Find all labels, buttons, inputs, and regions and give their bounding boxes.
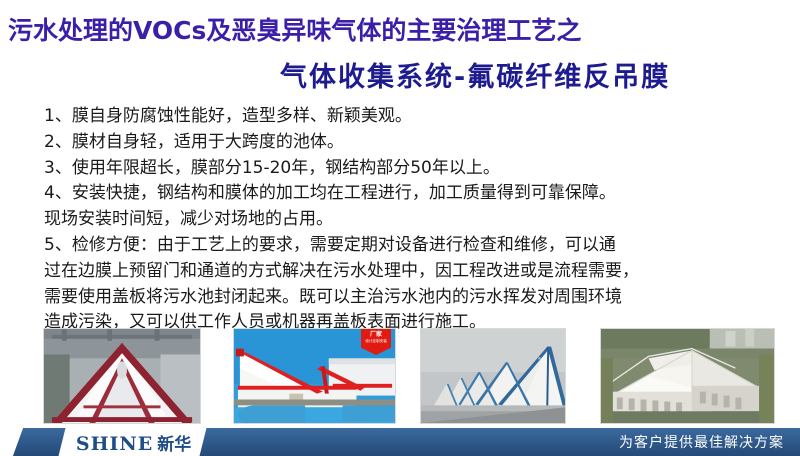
photo-strip: 厂家 设计定制安装: [0, 328, 800, 426]
photo-3-graphic: [421, 329, 565, 423]
photo-1-graphic: [44, 329, 200, 423]
page-subtitle: 气体收集系统-氟碳纤维反吊膜: [280, 64, 670, 92]
page-title: 污水处理的VOCs及恶臭异味气体的主要治理工艺之: [8, 18, 581, 44]
footer-left-accent: [0, 428, 23, 456]
body-line: 需要使用盖板将污水池封闭起来。既可以主治污水池内的污水挥发对周围环境: [44, 285, 784, 311]
body-line: 5、检修方便：由于工艺上的要求，需要定期对设备进行检查和维修，可以通: [44, 233, 784, 259]
body-line: 过在边膜上预留门和通道的方式解决在污水处理中，因工程改进或是流程需要，: [44, 259, 784, 285]
body-line: 2、膜材自身轻，适用于大跨度的池体。: [44, 130, 784, 156]
body-line: 3、使用年限超长，膜部分15-20年，钢结构部分50年以上。: [44, 156, 784, 182]
badge-line-1: 厂家: [370, 331, 382, 338]
photo-membrane-canopy-white-enclosure-aerial: [600, 328, 775, 424]
photo-membrane-canopy-red-frame-blue-pipes: 厂家 设计定制安装: [233, 328, 396, 424]
footer-bar: SHINE 新华 为客户提供最佳解决方案: [0, 428, 800, 456]
photo-membrane-canopy-red-frame-aerial: [43, 328, 201, 424]
body-line: 现场安装时间短，减少对场地的占用。: [44, 207, 784, 233]
photo-membrane-canopy-blue-frame-row: [420, 328, 566, 424]
body-text-block: 1、膜自身防腐蚀性能好，造型多样、新颖美观。 2、膜材自身轻，适用于大跨度的池体…: [44, 104, 784, 336]
brand-logo-cn: 新华: [157, 430, 191, 455]
photo-4-graphic: [601, 329, 774, 423]
body-line: 4、安装快捷，钢结构和膜体的加工均在工程进行，加工质量得到可靠保障。: [44, 181, 784, 207]
badge-line-2: 设计定制安装: [365, 338, 387, 343]
footer-slogan: 为客户提供最佳解决方案: [619, 428, 784, 456]
brand-logo-en: SHINE: [76, 433, 153, 455]
body-line: 1、膜自身防腐蚀性能好，造型多样、新颖美观。: [44, 104, 784, 130]
brand-logo: SHINE 新华: [59, 428, 207, 456]
slide-canvas: 污水处理的VOCs及恶臭异味气体的主要治理工艺之 气体收集系统-氟碳纤维反吊膜 …: [0, 0, 800, 456]
